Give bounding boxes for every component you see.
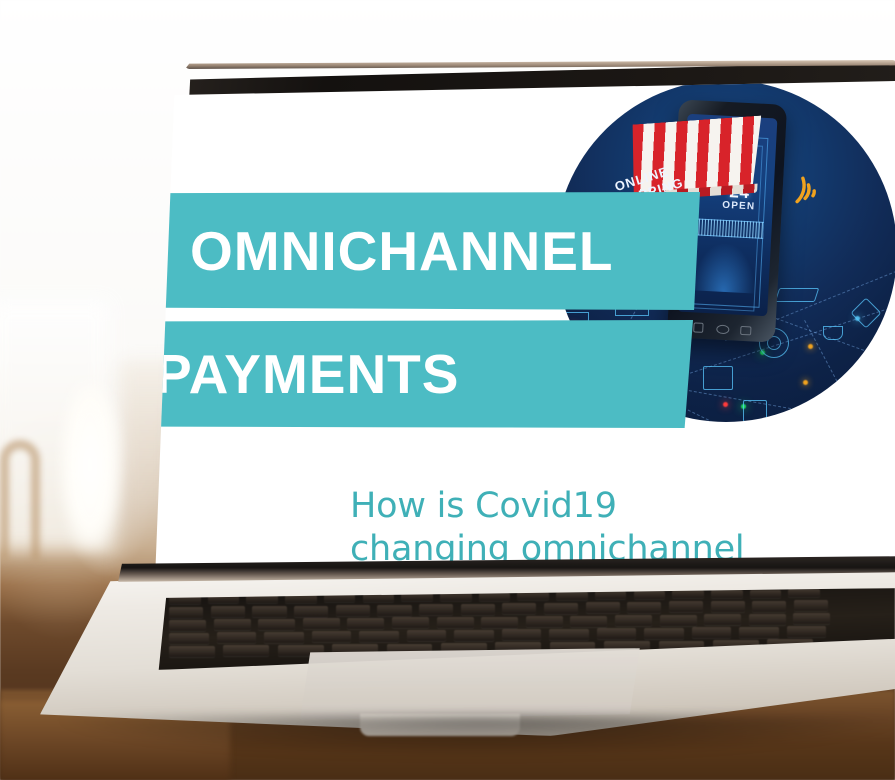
phone-back-button bbox=[693, 322, 704, 333]
bag-icon bbox=[743, 400, 767, 422]
presentation-slide: 24 OPEN ONLINE SHOPPING bbox=[155, 80, 895, 580]
laptop-trackpad[interactable] bbox=[300, 648, 640, 720]
title-banner-secondary: PAYMENTS bbox=[155, 320, 693, 428]
laptop-display: 24 OPEN ONLINE SHOPPING bbox=[155, 80, 895, 580]
storefront-glow bbox=[692, 242, 756, 293]
gift-icon bbox=[703, 366, 733, 390]
laptop-device: 24 OPEN ONLINE SHOPPING bbox=[0, 0, 895, 780]
title-banner-primary: OMNICHANNEL bbox=[155, 192, 700, 310]
phone-recents-button bbox=[740, 326, 751, 336]
screenshot-stage: 24 OPEN ONLINE SHOPPING bbox=[0, 0, 895, 780]
cart-icon-2 bbox=[823, 326, 843, 340]
laptop-shadow bbox=[60, 716, 895, 756]
phone-home-button bbox=[716, 325, 729, 335]
card-icon bbox=[775, 288, 820, 302]
